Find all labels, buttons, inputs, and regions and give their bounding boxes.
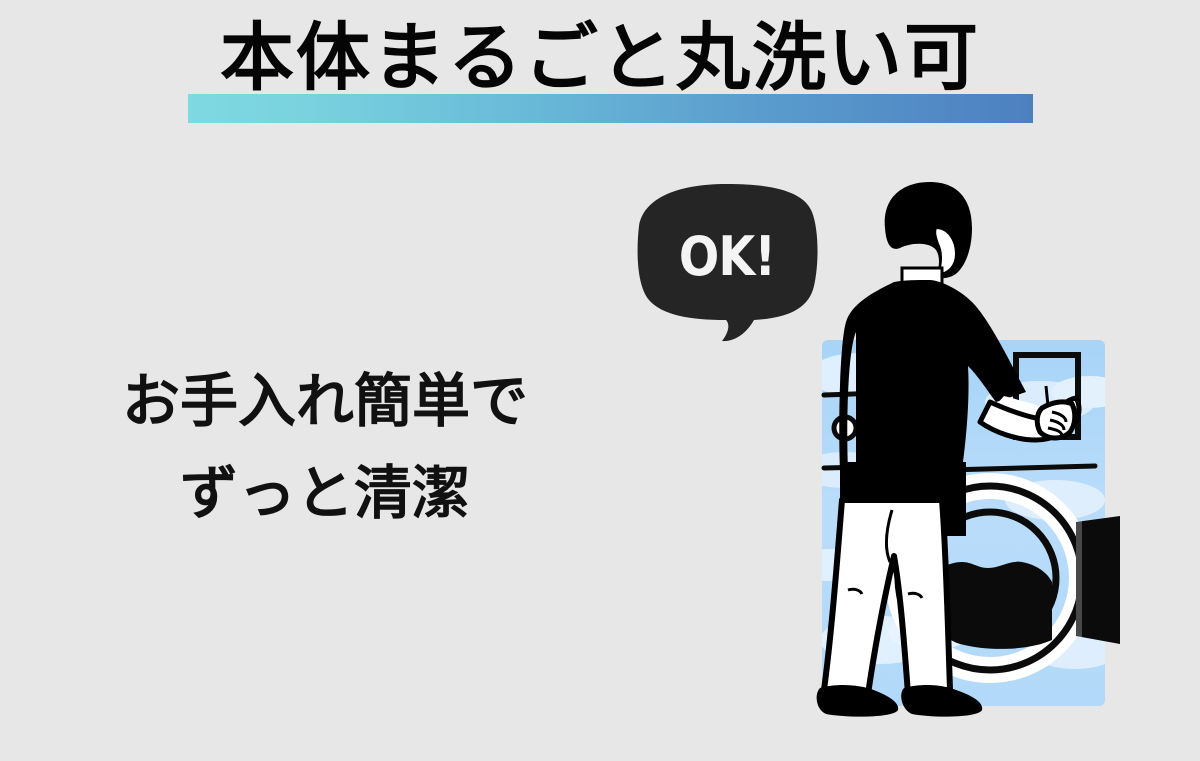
lead-copy-line-1: お手入れ簡単で [60,355,590,447]
illustration-svg [790,170,1130,730]
illustration-person-washing-machine [790,170,1130,730]
headline-title: 本体まるごと丸洗い可 [0,8,1200,108]
lead-copy-block: お手入れ簡単で ずっと清潔 [60,355,590,539]
lead-copy-line-2: ずっと清潔 [60,447,590,539]
hand [1037,402,1075,438]
poster-canvas: 本体まるごと丸洗い可 お手入れ簡単で ずっと清潔 OK! [0,0,1200,761]
headline-block: 本体まるごと丸洗い可 [0,8,1200,118]
hair [885,182,972,278]
